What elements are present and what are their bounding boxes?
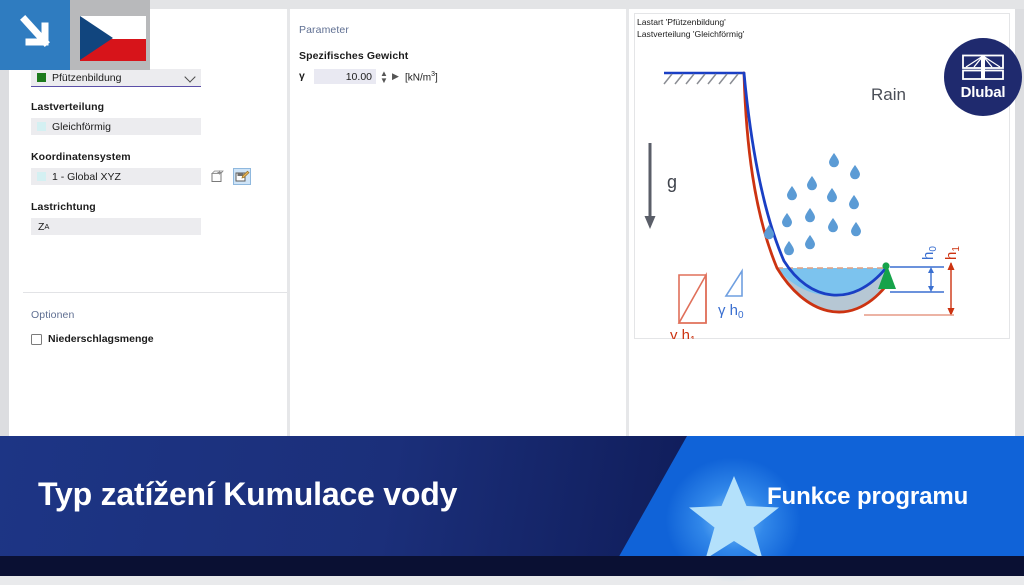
parameter-section-header: Parameter [299,24,349,36]
load-distribution-field[interactable]: Gleichförmig [31,118,201,135]
parameter-panel: Parameter Spezifisches Gewicht γ 10.00 ▲… [290,9,626,436]
load-direction-field[interactable]: ZA [31,218,201,235]
load-direction-subscript: A [44,222,49,231]
precipitation-checkbox-row[interactable]: Niederschlagsmenge [31,333,154,345]
load-type-value: Pfützenbildung [52,72,121,84]
gravity-label: g [667,172,677,192]
coordinate-system-field[interactable]: 1 - Global XYZ [31,168,201,185]
load-distribution-value: Gleichförmig [52,121,111,133]
banner-subtitle: Funkce programu [767,483,968,511]
unit-prefix: [kN/m [405,72,431,83]
load-distribution-label: Lastverteilung [31,101,104,113]
left-panel: Pfützenbildung Lastverteilung Gleichförm… [9,9,287,436]
gamma-symbol: γ [299,70,305,82]
coordinate-system-color-swatch [37,172,46,181]
pressure-triangle-gamma-h1 [679,275,706,323]
pressure-small-label: γ h0 [718,302,744,321]
banner-title: Typ zatížení Kumulace vody [38,476,457,513]
dialog-top-strip [0,0,1024,9]
dlubal-truss-icon [960,53,1006,83]
support-node [882,262,889,269]
options-section-header: Optionen [31,309,74,321]
panel-divider [23,292,287,293]
gravity-arrow-icon [645,143,656,229]
edit-coordinate-system-icon[interactable] [233,168,251,185]
pressure-triangle-gamma-h0 [726,271,742,296]
flag-blue-wedge [80,16,113,60]
specific-weight-input[interactable]: 10.00 [314,69,376,84]
specific-weight-label: Spezifisches Gewicht [299,50,408,62]
unit-suffix: ] [435,72,438,83]
load-type-color-swatch [37,73,46,82]
coordinate-system-label: Koordinatensystem [31,151,131,163]
chevron-down-icon[interactable] [184,71,195,82]
banner-footer-strip [0,556,1024,576]
precipitation-checkbox-label: Niederschlagsmenge [48,333,154,345]
rain-drops-icon [764,153,861,255]
coordinate-system-value: 1 - Global XYZ [52,171,121,183]
screenshot-root: Pfützenbildung Lastverteilung Gleichförm… [0,0,1024,576]
precipitation-checkbox[interactable] [31,334,42,345]
fixed-support-icon [664,73,744,84]
load-type-combobox[interactable]: Pfützenbildung [31,69,201,86]
specific-weight-unit: [kN/m3] [405,71,438,83]
specific-weight-value: 10.00 [346,71,372,83]
h0-dimension [890,267,944,292]
pressure-large-label: γ h1 [670,327,696,339]
dlubal-logo-text: Dlubal [961,84,1006,101]
expand-right-icon[interactable]: ▶ [392,73,399,80]
load-type-focus-underline [31,86,201,87]
spinner-updown-icon[interactable]: ▲▼ [380,70,388,84]
new-coordinate-system-icon[interactable] [208,168,226,185]
dlubal-logo: Dlubal [944,38,1022,116]
h1-dimension [948,262,955,316]
h1-label: h1 [943,246,962,260]
h0-label: h0 [920,246,939,260]
load-distribution-color-swatch [37,122,46,131]
czech-flag-icon [80,16,146,61]
load-direction-label: Lastrichtung [31,201,96,213]
load-dialog: Pfützenbildung Lastverteilung Gleichförm… [0,0,1024,436]
rain-label: Rain [871,85,906,104]
arrow-down-right-icon [0,0,70,70]
dialog-left-rail [0,9,9,436]
